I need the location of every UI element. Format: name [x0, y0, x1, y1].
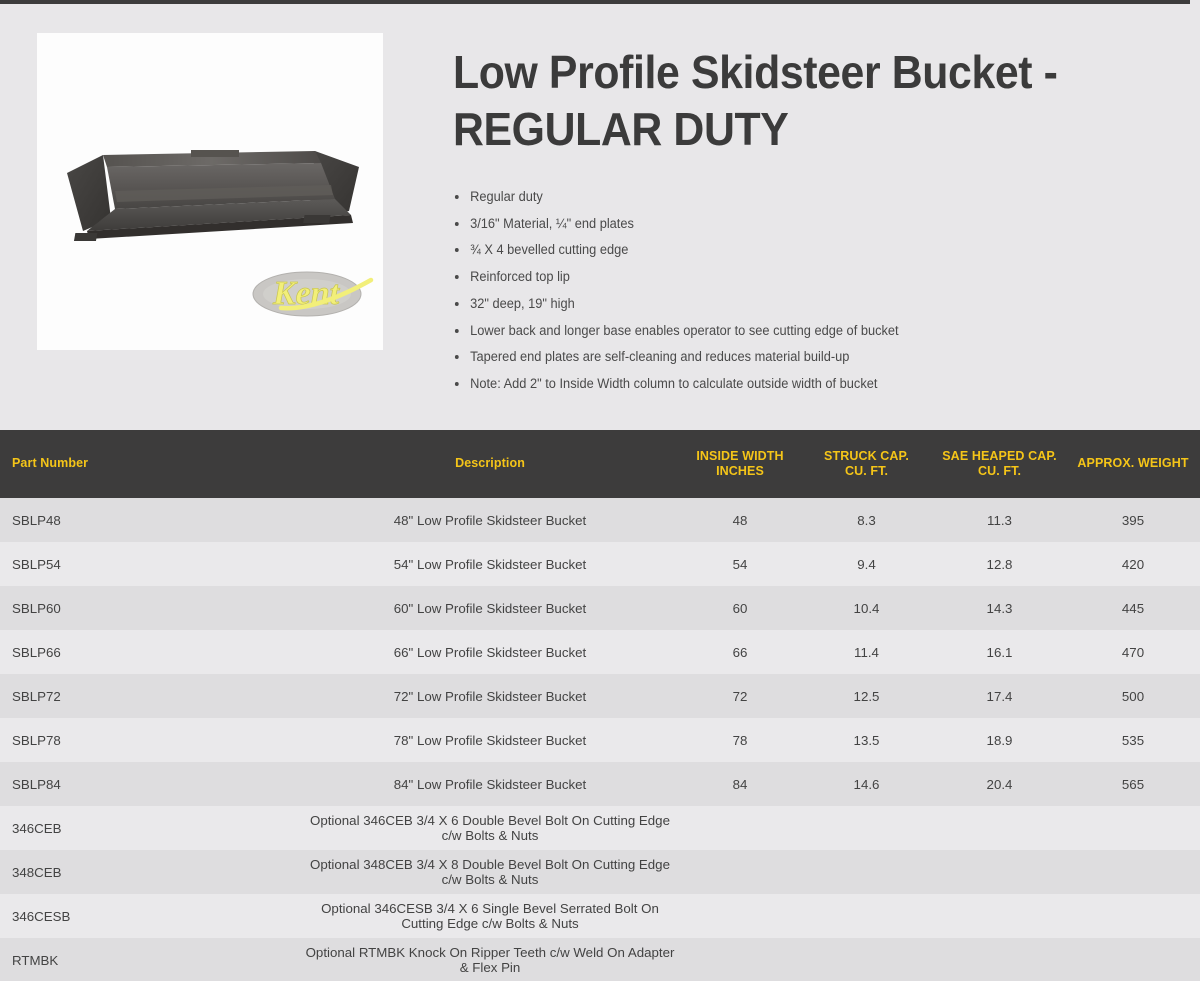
skidsteer-bucket-image: [63, 133, 363, 263]
table-header: Part Number Description INSIDE WIDTH INC…: [0, 430, 1200, 498]
cell-approx-weight: 535: [1066, 718, 1200, 762]
cell-approx-weight: 395: [1066, 498, 1200, 542]
cell-approx-weight: [1066, 894, 1200, 938]
cell-inside-width: 54: [680, 542, 800, 586]
table-row[interactable]: SBLP4848" Low Profile Skidsteer Bucket48…: [0, 498, 1200, 542]
cell-inside-width: 66: [680, 630, 800, 674]
cell-struck-cap: 8.3: [800, 498, 933, 542]
cell-approx-weight: [1066, 806, 1200, 850]
cell-approx-weight: 565: [1066, 762, 1200, 806]
cell-sae-heaped-cap: [933, 894, 1066, 938]
cell-description: 54" Low Profile Skidsteer Bucket: [300, 542, 680, 586]
table-row[interactable]: SBLP5454" Low Profile Skidsteer Bucket54…: [0, 542, 1200, 586]
cell-description: 48" Low Profile Skidsteer Bucket: [300, 498, 680, 542]
cell-inside-width: 72: [680, 674, 800, 718]
cell-part-number: SBLP66: [0, 630, 300, 674]
cell-sae-heaped-cap: 16.1: [933, 630, 1066, 674]
column-header-inside-width-line2: INCHES: [716, 464, 764, 478]
table-header-row: Part Number Description INSIDE WIDTH INC…: [0, 430, 1200, 498]
cell-approx-weight: 420: [1066, 542, 1200, 586]
cell-description: 84" Low Profile Skidsteer Bucket: [300, 762, 680, 806]
cell-part-number: SBLP54: [0, 542, 300, 586]
cell-description: Optional RTMBK Knock On Ripper Teeth c/w…: [300, 938, 680, 981]
cell-inside-width: [680, 806, 800, 850]
table-row[interactable]: SBLP7878" Low Profile Skidsteer Bucket78…: [0, 718, 1200, 762]
column-header-sae-heaped-cap-line2: CU. FT.: [978, 464, 1021, 478]
cell-inside-width: 48: [680, 498, 800, 542]
column-header-part-number[interactable]: Part Number: [0, 430, 300, 498]
cell-description: Optional 346CEB 3/4 X 6 Double Bevel Bol…: [300, 806, 680, 850]
product-info: Low Profile Skidsteer Bucket - REGULAR D…: [453, 33, 1153, 398]
cell-part-number: SBLP60: [0, 586, 300, 630]
cell-approx-weight: [1066, 850, 1200, 894]
feature-item: 3/16" Material, ¼" end plates: [453, 211, 1118, 238]
column-header-struck-cap[interactable]: STRUCK CAP. CU. FT.: [800, 430, 933, 498]
cell-sae-heaped-cap: 12.8: [933, 542, 1066, 586]
table-body: SBLP4848" Low Profile Skidsteer Bucket48…: [0, 498, 1200, 981]
cell-sae-heaped-cap: 18.9: [933, 718, 1066, 762]
cell-inside-width: [680, 938, 800, 981]
feature-item: ¾ X 4 bevelled cutting edge: [453, 237, 1118, 264]
specification-table: Part Number Description INSIDE WIDTH INC…: [0, 430, 1200, 981]
feature-item: 32" deep, 19" high: [453, 291, 1118, 318]
cell-part-number: SBLP78: [0, 718, 300, 762]
cell-sae-heaped-cap: 11.3: [933, 498, 1066, 542]
cell-approx-weight: 470: [1066, 630, 1200, 674]
column-header-inside-width-line1: INSIDE WIDTH: [696, 449, 783, 463]
feature-item: Lower back and longer base enables opera…: [453, 318, 1118, 345]
table-row[interactable]: SBLP6666" Low Profile Skidsteer Bucket66…: [0, 630, 1200, 674]
cell-part-number: 346CESB: [0, 894, 300, 938]
cell-approx-weight: 500: [1066, 674, 1200, 718]
cell-struck-cap: 11.4: [800, 630, 933, 674]
column-header-sae-heaped-cap-line1: SAE HEAPED CAP.: [942, 449, 1057, 463]
cell-sae-heaped-cap: 17.4: [933, 674, 1066, 718]
cell-struck-cap: 14.6: [800, 762, 933, 806]
cell-sae-heaped-cap: 20.4: [933, 762, 1066, 806]
table-row[interactable]: 348CEBOptional 348CEB 3/4 X 8 Double Bev…: [0, 850, 1200, 894]
cell-struck-cap: [800, 938, 933, 981]
cell-description: 72" Low Profile Skidsteer Bucket: [300, 674, 680, 718]
column-header-description[interactable]: Description: [300, 430, 680, 498]
table-row[interactable]: SBLP6060" Low Profile Skidsteer Bucket60…: [0, 586, 1200, 630]
cell-struck-cap: 13.5: [800, 718, 933, 762]
cell-part-number: SBLP72: [0, 674, 300, 718]
cell-sae-heaped-cap: [933, 850, 1066, 894]
cell-sae-heaped-cap: [933, 938, 1066, 981]
cell-inside-width: [680, 894, 800, 938]
feature-list: Regular duty 3/16" Material, ¼" end plat…: [453, 184, 1153, 398]
cell-struck-cap: 9.4: [800, 542, 933, 586]
product-page: Kent Low Profile Skidsteer Bucket - REGU…: [0, 4, 1200, 981]
cell-description: 60" Low Profile Skidsteer Bucket: [300, 586, 680, 630]
cell-struck-cap: [800, 806, 933, 850]
column-header-approx-weight[interactable]: APPROX. WEIGHT: [1066, 430, 1200, 498]
cell-part-number: SBLP84: [0, 762, 300, 806]
feature-item: Regular duty: [453, 184, 1118, 211]
cell-approx-weight: 445: [1066, 586, 1200, 630]
cell-description: Optional 346CESB 3/4 X 6 Single Bevel Se…: [300, 894, 680, 938]
cell-inside-width: 78: [680, 718, 800, 762]
feature-item: Note: Add 2" to Inside Width column to c…: [453, 371, 1118, 398]
cell-inside-width: 60: [680, 586, 800, 630]
kent-logo: Kent: [247, 260, 375, 322]
cell-part-number: RTMBK: [0, 938, 300, 981]
table-row[interactable]: RTMBKOptional RTMBK Knock On Ripper Teet…: [0, 938, 1200, 981]
cell-sae-heaped-cap: 14.3: [933, 586, 1066, 630]
column-header-inside-width[interactable]: INSIDE WIDTH INCHES: [680, 430, 800, 498]
cell-struck-cap: [800, 894, 933, 938]
column-header-struck-cap-line1: STRUCK CAP.: [824, 449, 909, 463]
column-header-struck-cap-line2: CU. FT.: [845, 464, 888, 478]
table-row[interactable]: SBLP8484" Low Profile Skidsteer Bucket84…: [0, 762, 1200, 806]
cell-description: 66" Low Profile Skidsteer Bucket: [300, 630, 680, 674]
feature-item: Reinforced top lip: [453, 264, 1118, 291]
cell-part-number: 346CEB: [0, 806, 300, 850]
table-row[interactable]: 346CESBOptional 346CESB 3/4 X 6 Single B…: [0, 894, 1200, 938]
cell-struck-cap: [800, 850, 933, 894]
page-title: Low Profile Skidsteer Bucket - REGULAR D…: [453, 44, 1104, 158]
cell-description: 78" Low Profile Skidsteer Bucket: [300, 718, 680, 762]
feature-item: Tapered end plates are self-cleaning and…: [453, 344, 1118, 371]
cell-description: Optional 348CEB 3/4 X 8 Double Bevel Bol…: [300, 850, 680, 894]
product-image-panel[interactable]: Kent: [37, 33, 383, 350]
cell-struck-cap: 10.4: [800, 586, 933, 630]
column-header-sae-heaped-cap[interactable]: SAE HEAPED CAP. CU. FT.: [933, 430, 1066, 498]
cell-struck-cap: 12.5: [800, 674, 933, 718]
cell-sae-heaped-cap: [933, 806, 1066, 850]
cell-inside-width: [680, 850, 800, 894]
cell-part-number: SBLP48: [0, 498, 300, 542]
cell-inside-width: 84: [680, 762, 800, 806]
cell-part-number: 348CEB: [0, 850, 300, 894]
table-row[interactable]: SBLP7272" Low Profile Skidsteer Bucket72…: [0, 674, 1200, 718]
table-row[interactable]: 346CEBOptional 346CEB 3/4 X 6 Double Bev…: [0, 806, 1200, 850]
product-overview-section: Kent Low Profile Skidsteer Bucket - REGU…: [0, 4, 1200, 430]
cell-approx-weight: [1066, 938, 1200, 981]
